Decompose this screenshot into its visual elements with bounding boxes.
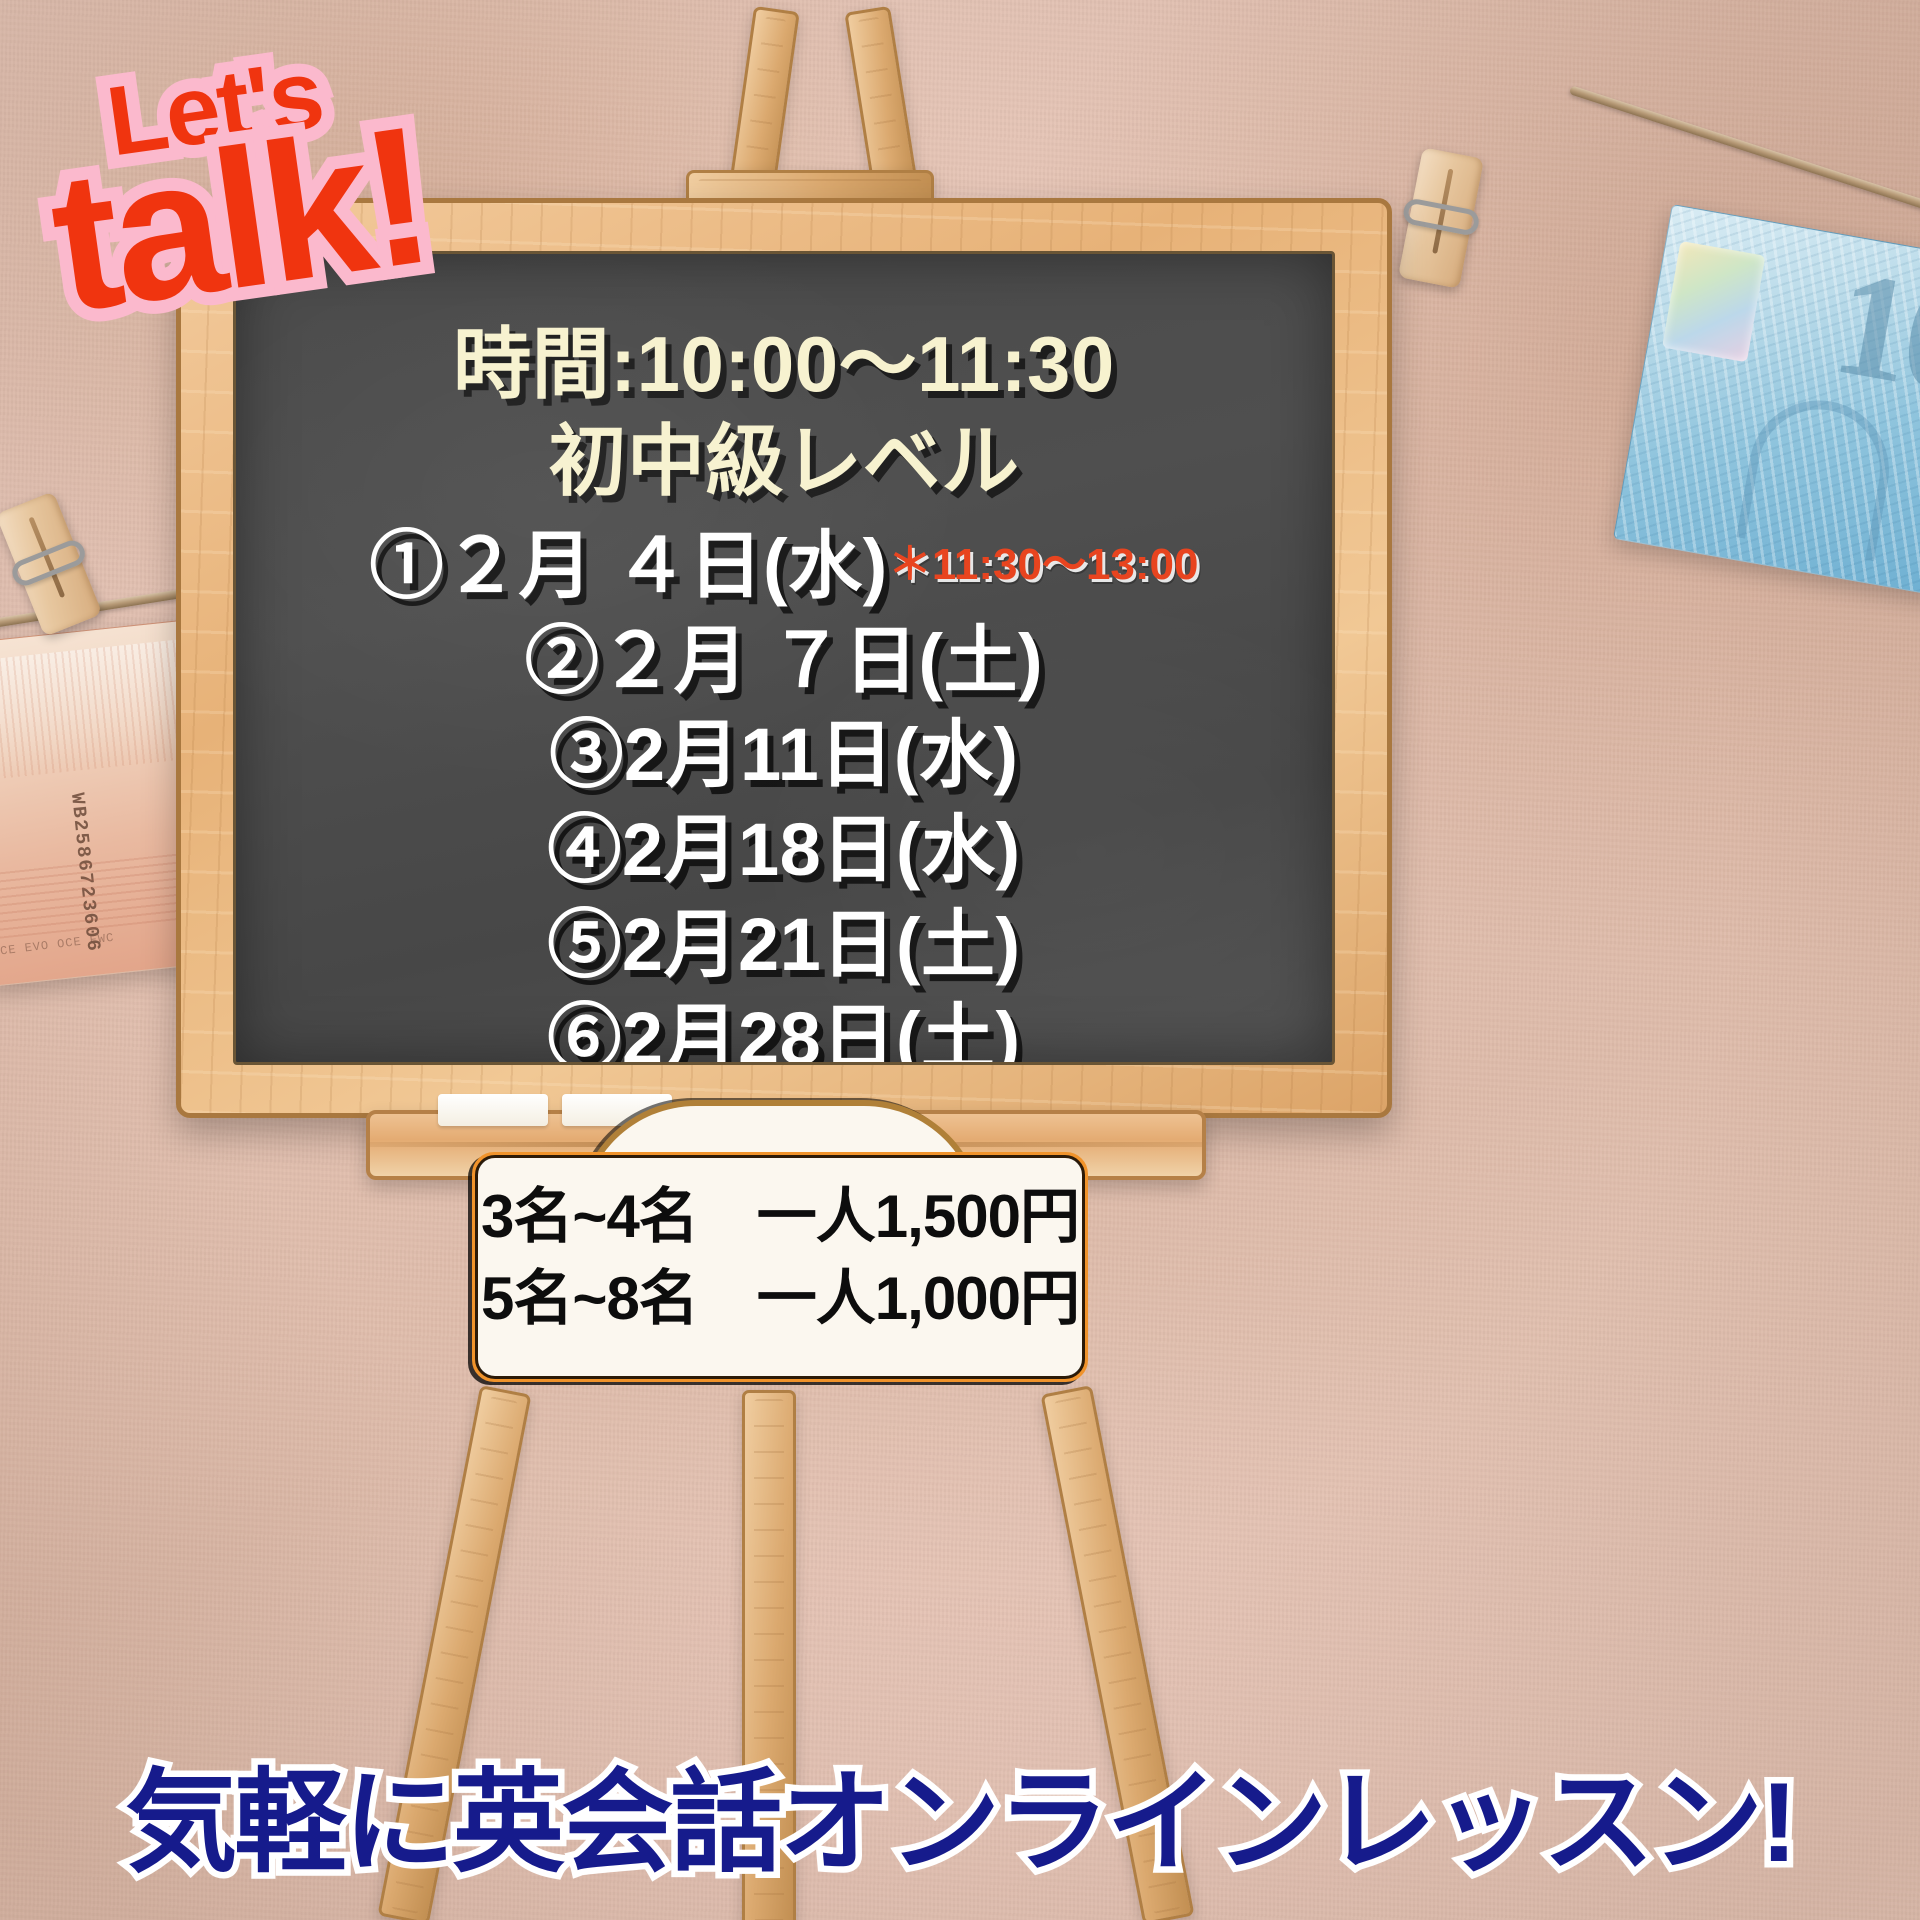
schedule-date-row: ⑤2月21日(土): [236, 898, 1332, 993]
schedule-time-label: 時間:10:00〜11:30: [236, 314, 1332, 415]
badge-line-2: talk!: [43, 109, 436, 332]
chalk-stick-left: [438, 1094, 548, 1126]
bottom-tagline: 気軽に英会話オンラインレッスン!: [0, 1732, 1920, 1894]
schedule-date-text: ２月 ７日(土): [599, 619, 1043, 702]
banknote-arch-motif: [1736, 389, 1900, 561]
lets-talk-badge: Let's talk!: [33, 37, 436, 331]
schedule-date-text: 2月11日(水): [624, 713, 1019, 796]
schedule-date-marker: ①: [369, 524, 444, 607]
banknote-hologram-patch: [1662, 241, 1765, 362]
schedule-date-text: ２月 ４日(水): [444, 524, 888, 607]
blackboard-surface: 時間:10:00〜11:30 初中級レベル ①２月 ４日(水)＊11:30〜13…: [233, 251, 1335, 1065]
price-row-2: 5名~8名 一人1,000円: [472, 1258, 1088, 1340]
schedule-date-text: 2月18日(水): [622, 808, 1021, 891]
schedule-date-note: ＊11:30〜13:00: [888, 540, 1199, 589]
schedule-date-text: 2月28日(土): [622, 997, 1021, 1065]
schedule-date-row: ④2月18日(水): [236, 803, 1332, 898]
price-row-1: 3名~4名 一人1,500円: [472, 1176, 1088, 1258]
schedule-date-row: ⑥2月28日(土): [236, 992, 1332, 1065]
banknote-denomination: 10: [1824, 247, 1920, 419]
schedule-date-marker: ⑤: [547, 903, 622, 986]
price-sign: 3名~4名 一人1,500円 5名~8名 一人1,000円: [472, 1152, 1088, 1382]
price-sign-rows: 3名~4名 一人1,500円 5名~8名 一人1,000円: [472, 1176, 1088, 1339]
schedule-date-list: ①２月 ４日(水)＊11:30〜13:00②２月 ７日(土)③2月11日(水)④…: [236, 519, 1332, 1065]
blackboard-content: 時間:10:00〜11:30 初中級レベル ①２月 ４日(水)＊11:30〜13…: [236, 314, 1332, 1065]
banknote-serial-number: WB2586723606: [66, 792, 105, 954]
schedule-date-row: ③2月11日(水): [236, 708, 1332, 803]
schedule-date-row: ①２月 ４日(水)＊11:30〜13:00: [236, 519, 1332, 614]
schedule-level-label: 初中級レベル: [236, 411, 1332, 512]
schedule-date-text: 2月21日(土): [622, 903, 1021, 986]
schedule-date-marker: ⑥: [547, 997, 622, 1065]
blackboard-frame: 時間:10:00〜11:30 初中級レベル ①２月 ４日(水)＊11:30〜13…: [176, 198, 1392, 1118]
schedule-date-marker: ④: [547, 808, 622, 891]
schedule-date-marker: ③: [549, 713, 624, 796]
schedule-date-row: ②２月 ７日(土): [236, 614, 1332, 709]
schedule-date-marker: ②: [525, 619, 600, 702]
